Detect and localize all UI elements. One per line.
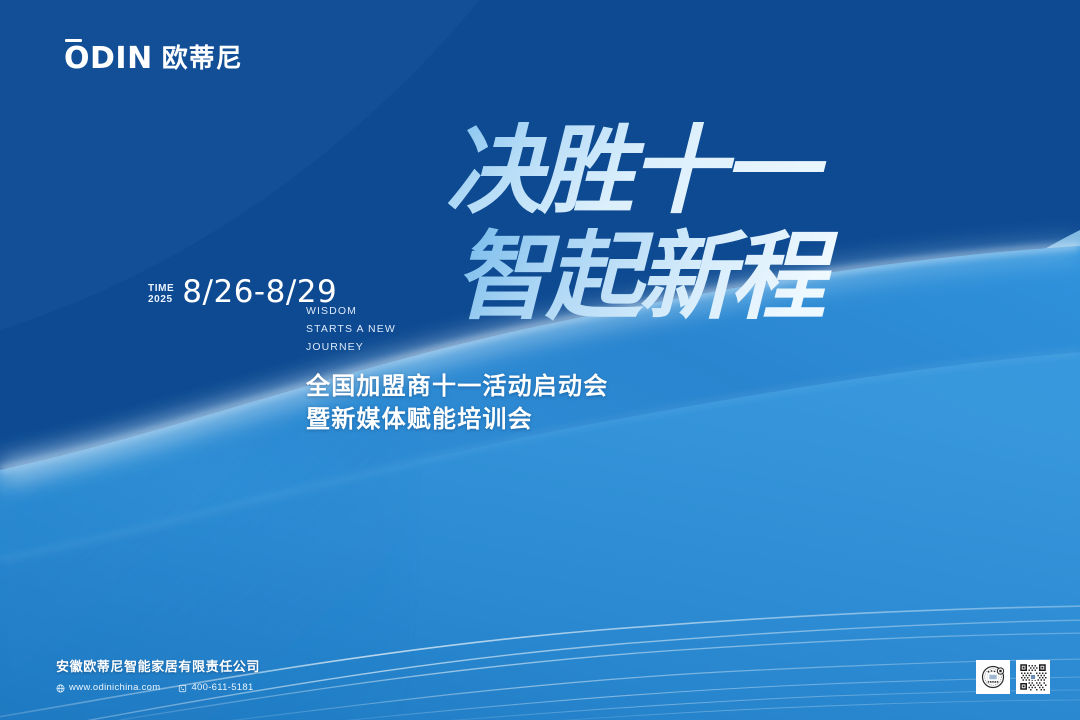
subtitle-line-2: 暨新媒体赋能培训会: [306, 403, 608, 436]
subtitle-line-1: 全国加盟商十一活动启动会: [306, 370, 608, 403]
time-label: TIME 2025: [148, 276, 174, 305]
event-subtitle: 全国加盟商十一活动启动会 暨新媒体赋能培训会: [306, 370, 608, 436]
footer-phone-text: 400-611-5181: [191, 682, 253, 694]
footer-contact-row: www.odinichina.com 400-611-5181: [56, 682, 260, 694]
time-label-year: 2025: [148, 294, 174, 305]
logo-o-mark: ODIN: [64, 44, 153, 74]
footer-company-name: 安徽欧蒂尼智能家居有限责任公司: [56, 659, 260, 677]
qr-code-group: [976, 660, 1050, 694]
logo-o-letter: O: [64, 41, 90, 76]
globe-icon: [56, 684, 65, 693]
tagline-line-1: WISDOM: [306, 302, 396, 320]
footer-phone[interactable]: 400-611-5181: [178, 682, 253, 694]
footer-website-text: www.odinichina.com: [69, 682, 160, 694]
footer-website[interactable]: www.odinichina.com: [56, 682, 160, 694]
logo-macron-icon: [65, 39, 82, 42]
logo-chinese-name: 欧蒂尼: [162, 46, 243, 72]
footer-block: 安徽欧蒂尼智能家居有限责任公司 www.odinichina.com: [56, 659, 260, 694]
tagline-line-3: JOURNEY: [306, 338, 396, 356]
time-label-time: TIME: [148, 283, 174, 294]
tagline-line-2: STARTS A NEW: [306, 320, 396, 338]
event-poster: ODIN 欧蒂尼 决胜十一 智起新程: [0, 0, 1080, 720]
logo-din-letters: DIN: [90, 41, 153, 76]
qr-code-wechat[interactable]: [1016, 660, 1050, 694]
phone-icon: [178, 684, 187, 693]
tagline-english: WISDOM STARTS A NEW JOURNEY: [306, 302, 396, 356]
qr-code-seal[interactable]: [976, 660, 1010, 694]
brand-logo[interactable]: ODIN 欧蒂尼: [64, 44, 243, 74]
background-wave-graphic: [0, 0, 1080, 720]
